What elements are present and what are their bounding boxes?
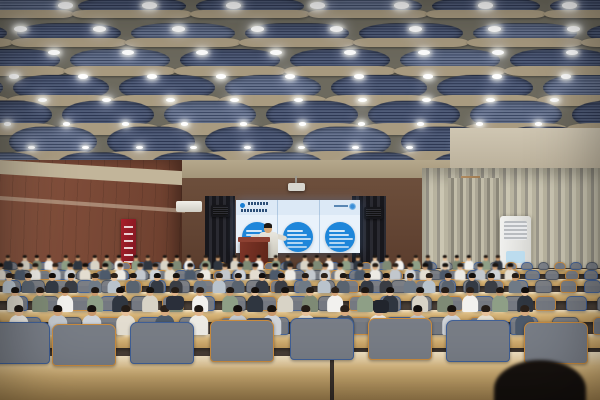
classroom-chair <box>593 317 600 335</box>
ceiling-downlight <box>417 122 425 126</box>
audience-hair <box>423 263 428 267</box>
audience-member <box>90 256 99 270</box>
audience-hair <box>111 273 117 278</box>
ceiling-arch-beam <box>426 10 546 18</box>
ceiling-downlight <box>358 122 366 126</box>
audience-hair <box>458 263 463 267</box>
audience-hair <box>521 287 529 293</box>
ceiling-arch-beam <box>544 10 600 18</box>
classroom-chair <box>566 296 587 311</box>
audience-hair <box>508 263 513 267</box>
audience-hair <box>469 273 475 278</box>
audience-hair <box>302 273 308 278</box>
audience-hair <box>138 263 143 267</box>
audience-hair <box>308 263 313 267</box>
slide-circle-text-line <box>287 242 303 244</box>
audience-hair <box>154 273 160 278</box>
ceiling-downlight <box>476 122 484 126</box>
banner-text-line <box>124 226 133 228</box>
audience-hair <box>226 287 234 293</box>
audience-hair <box>83 263 88 267</box>
ceiling-downlight <box>492 74 503 79</box>
banner-text-line <box>124 240 133 242</box>
foreground-chair <box>368 318 432 360</box>
ceiling-downlight <box>244 146 251 149</box>
audience-torso <box>127 280 140 294</box>
classroom-chair <box>584 270 598 280</box>
audience-hair <box>153 263 158 267</box>
audience-hair <box>478 263 483 267</box>
audience-hair <box>118 263 123 267</box>
audience-member <box>455 264 466 281</box>
ceiling-downlight <box>136 146 143 149</box>
ceiling-downlight <box>270 50 282 55</box>
audience-hair <box>203 263 208 267</box>
ceiling-downlight <box>9 74 20 79</box>
loudspeaker-left <box>211 205 230 217</box>
slide-divider-2 <box>319 200 320 253</box>
audience-torso <box>90 260 99 270</box>
ceiling-downlight <box>330 26 343 32</box>
audience-hair <box>25 273 31 278</box>
audience-hair <box>408 263 413 267</box>
organization-logo-icon <box>349 203 356 210</box>
audience-hair <box>273 263 278 267</box>
audience-hair <box>168 263 173 267</box>
audience-hair <box>146 287 154 293</box>
loudspeaker-right <box>364 207 383 219</box>
audience-hair <box>373 263 378 267</box>
classroom-chair <box>535 296 556 311</box>
classroom-chair <box>584 280 600 293</box>
audience-hair <box>481 305 491 312</box>
ceiling-downlight <box>299 122 307 126</box>
classroom-chair <box>525 270 539 280</box>
audience-hair <box>194 305 204 312</box>
audience-hair <box>358 263 363 267</box>
audience-hair <box>91 287 99 293</box>
audience-member <box>247 288 263 313</box>
foreground-chair <box>130 322 194 364</box>
audience-hair <box>306 287 314 293</box>
audience-hair <box>68 273 74 278</box>
slide-circle-text-line <box>287 246 307 248</box>
ceiling-downlight <box>423 74 434 79</box>
audience-hair <box>416 287 424 293</box>
backpack <box>373 300 389 313</box>
audience-torso <box>455 269 466 281</box>
banner-text-line <box>124 233 133 235</box>
audience-hair <box>49 273 55 278</box>
ceiling-arch-beam <box>467 38 583 47</box>
classroom-chair <box>570 262 582 270</box>
ceiling-downlight <box>492 50 504 55</box>
ceiling-downlight <box>82 146 89 149</box>
audience-hair <box>92 273 98 278</box>
audience-hair <box>103 263 108 267</box>
presenter-hair <box>264 223 272 228</box>
foreground-chair <box>290 318 354 360</box>
audience-hair <box>251 287 259 293</box>
slide-circle-3 <box>325 222 355 252</box>
foreground-chair <box>0 322 50 364</box>
audience-hair <box>253 263 258 267</box>
slide-circle-text-line <box>287 238 311 240</box>
ceiling-arch-beam <box>72 10 192 18</box>
audience-hair <box>233 305 243 312</box>
audience-hair <box>53 263 58 267</box>
classroom-chair <box>538 262 550 270</box>
ceiling-arch-beam <box>581 38 600 47</box>
audience-hair <box>386 287 394 293</box>
audience-hair <box>238 263 243 267</box>
ceiling-downlight <box>78 74 89 79</box>
audience-hair <box>340 305 350 312</box>
wall-air-conditioner <box>176 201 202 212</box>
classroom-chair <box>535 280 552 293</box>
audience-hair <box>301 305 311 312</box>
audience-hair <box>121 305 131 312</box>
audience-hair <box>393 263 398 267</box>
audience-hair <box>340 273 346 278</box>
ceiling-arch-beam <box>308 10 428 18</box>
audience-hair <box>323 263 328 267</box>
audience-torso <box>32 295 48 312</box>
audience-hair <box>383 273 389 278</box>
lecture-hall-photo <box>0 0 600 400</box>
ceiling-arch-beam <box>11 38 127 47</box>
audience-hair <box>413 305 423 312</box>
ceiling-downlight <box>251 26 264 32</box>
audience-hair <box>441 287 449 293</box>
audience-hair <box>61 287 69 293</box>
ceiling-downlight <box>488 26 501 32</box>
audience-hair <box>196 287 204 293</box>
audience-hair <box>259 273 265 278</box>
ceiling-downlight <box>394 2 409 9</box>
audience-hair <box>488 273 494 278</box>
audience-hair <box>520 305 530 312</box>
ceiling-downlight <box>58 2 73 9</box>
audience-hair <box>426 273 432 278</box>
ceiling-downlight <box>4 122 12 126</box>
audience-hair <box>18 263 23 267</box>
audience-hair <box>267 305 277 312</box>
classroom-chair <box>545 270 559 280</box>
ceiling-downlight <box>240 122 248 126</box>
ac-vent-grille <box>504 221 527 240</box>
audience-hair <box>130 273 136 278</box>
audience-hair <box>288 263 293 267</box>
podium-top <box>238 237 270 242</box>
audience-hair <box>445 273 451 278</box>
audience-hair <box>512 273 518 278</box>
ceiling-downlight <box>409 26 422 32</box>
audience-hair <box>87 305 97 312</box>
foreground-chair <box>524 322 588 364</box>
audience-hair <box>281 287 289 293</box>
classroom-chair <box>554 262 566 270</box>
audience-hair <box>364 273 370 278</box>
audience-member <box>127 274 140 295</box>
audience-hair <box>278 273 284 278</box>
ceiling-downlight <box>48 50 60 55</box>
ceiling-downlight <box>478 2 493 9</box>
ceiling-downlight <box>406 146 413 149</box>
slide-circle-text-line <box>329 238 353 240</box>
audience-hair <box>443 263 448 267</box>
ceiling-arch-beam <box>125 38 241 47</box>
ceiling-downlight <box>567 26 580 32</box>
ceiling-downlight <box>354 74 365 79</box>
audience-hair <box>11 287 19 293</box>
audience-hair <box>331 287 339 293</box>
audience-hair <box>53 305 63 312</box>
ceiling-downlight <box>216 74 227 79</box>
classroom-chair <box>586 262 598 270</box>
audience-hair <box>466 287 474 293</box>
classroom-chair <box>565 270 579 280</box>
slide-subtitle-text <box>241 209 267 212</box>
audience-hair <box>321 273 327 278</box>
ceiling-downlight <box>298 146 305 149</box>
ceiling-downlight <box>535 122 543 126</box>
foreground-chair <box>446 320 510 362</box>
ceiling-downlight <box>310 2 325 9</box>
ceiling-downlight <box>561 74 572 79</box>
ceiling-arch-beam <box>239 38 355 47</box>
ceiling-arch-beam <box>190 10 310 18</box>
ceiling-downlight <box>147 74 158 79</box>
foreground-chair <box>210 320 274 362</box>
ceiling-downlight <box>285 74 296 79</box>
audience-hair <box>33 263 38 267</box>
ceiling-downlight <box>190 146 197 149</box>
slide-circle-text-line <box>287 234 307 236</box>
slide-circle-text-line <box>329 242 345 244</box>
ceiling-downlight <box>181 122 189 126</box>
slide-circle-text-line <box>329 234 349 236</box>
audience-hair <box>447 305 457 312</box>
slide-bullet-icon <box>240 203 245 208</box>
slide-circle-text-line <box>329 246 349 248</box>
ceiling-downlight <box>14 26 27 32</box>
audience-hair <box>6 273 12 278</box>
audience-hair <box>14 305 24 312</box>
slide-title-text <box>248 202 268 205</box>
slide-circle-text-line <box>287 230 303 232</box>
foreground-chair <box>52 324 116 366</box>
ceiling-downlight <box>352 146 359 149</box>
audience-member <box>32 288 48 313</box>
slide-logo-text <box>334 205 348 207</box>
audience-hair <box>407 273 413 278</box>
audience-hair <box>338 263 343 267</box>
slide-circle-text-line <box>329 230 345 232</box>
audience-hair <box>68 263 73 267</box>
ceiling-downlight <box>562 2 577 9</box>
classroom-chair <box>521 262 533 270</box>
audience-hair <box>496 287 504 293</box>
audience-hair <box>361 287 369 293</box>
banner-text-line <box>124 247 133 249</box>
ceiling-downlight <box>142 2 157 9</box>
audience-hair <box>223 263 228 267</box>
ceiling-downlight <box>28 146 35 149</box>
audience-torso <box>247 295 263 312</box>
ceiling-downlight <box>63 122 71 126</box>
backpack <box>166 296 184 310</box>
ceiling-downlight <box>226 2 241 9</box>
ceiling-downlight <box>93 26 106 32</box>
audience-hair <box>197 273 203 278</box>
audience-hair <box>235 273 241 278</box>
ceiling-downlight <box>122 122 130 126</box>
ceiling-arch-beam <box>0 10 74 18</box>
ceiling-downlight <box>172 26 185 32</box>
audience-hair <box>171 287 179 293</box>
audience-hair <box>216 273 222 278</box>
slide-circle-2 <box>283 222 313 252</box>
classroom-chair <box>560 280 577 293</box>
audience-hair <box>173 273 179 278</box>
audience-hair <box>36 287 44 293</box>
ceiling-arch-beam <box>353 38 469 47</box>
audience-hair <box>116 287 124 293</box>
ceiling-projector <box>288 183 305 191</box>
audience-hair <box>493 263 498 267</box>
audience-hair <box>188 263 193 267</box>
